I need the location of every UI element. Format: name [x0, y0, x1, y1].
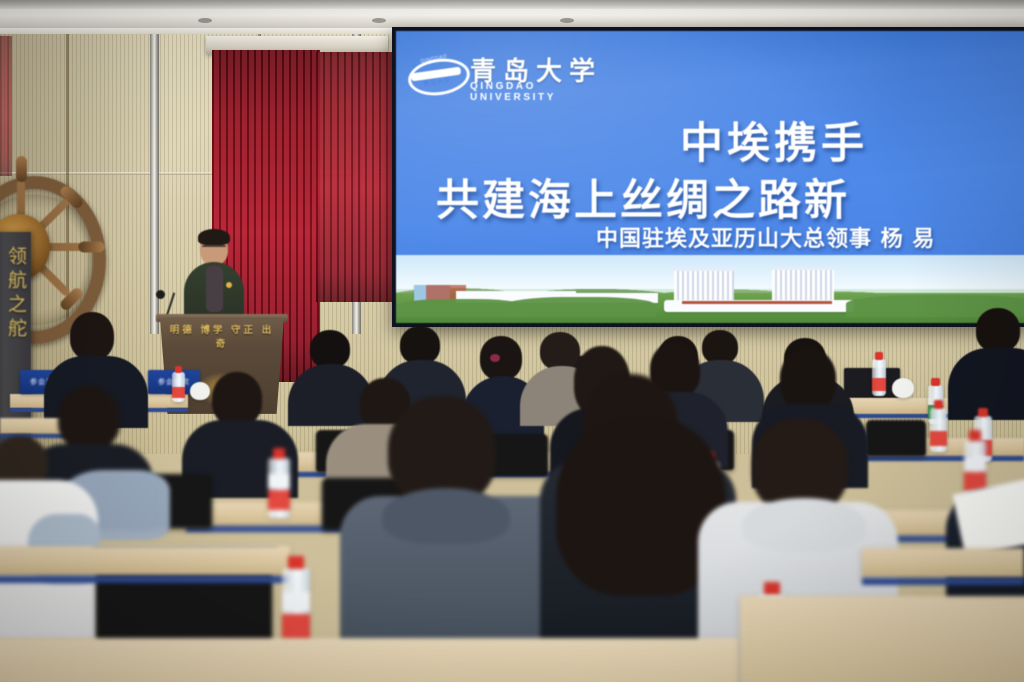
- ceiling-trim-strip: [0, 0, 1024, 9]
- chair: [866, 420, 926, 456]
- attendee-head: [70, 312, 114, 360]
- ceiling-spotlight: [560, 18, 574, 23]
- bottle-label-white: [268, 474, 290, 488]
- attendee-head: [310, 330, 350, 368]
- university-name-en: QINGDAO UNIVERSITY: [470, 81, 608, 103]
- water-bottle: [930, 400, 947, 452]
- bottle-label: [930, 431, 947, 446]
- speaker-glasses: [202, 245, 226, 252]
- ceiling-spotlight: [372, 18, 386, 23]
- water-bottle: [172, 366, 185, 402]
- attendee-head: [780, 348, 836, 410]
- attendee-head: [480, 336, 522, 380]
- campus-panorama-image: [396, 255, 1024, 323]
- decor-banner: 领航之舵: [0, 232, 31, 447]
- speaker-hair: [198, 229, 230, 245]
- slide-title-line1: 中埃携手: [396, 109, 1024, 171]
- lecture-hall-photo: 领航之舵 QINGDAO 青岛大学 青岛大学 QINGDAO UNIVERSIT…: [0, 0, 1024, 682]
- foreground-table: [0, 546, 290, 576]
- front-desk-surface: [740, 596, 1024, 682]
- bottle-cap: [969, 430, 981, 441]
- bottle-cap: [175, 366, 182, 373]
- wheel-handle: [79, 242, 105, 253]
- university-emblem-icon: QINGDAO 青岛大学: [408, 55, 464, 91]
- stage-curtain: [316, 52, 392, 302]
- decor-banner-text: 领航之舵: [0, 246, 31, 342]
- wheel-handle: [16, 156, 27, 182]
- teapot: [892, 378, 914, 398]
- stage-curtain-edge: [0, 36, 12, 176]
- attendee-head: [540, 332, 580, 370]
- hoodie-hood: [382, 488, 510, 544]
- ceiling-spotlight: [198, 18, 212, 23]
- panorama-trees: [506, 297, 656, 317]
- water-bottle: [268, 448, 290, 518]
- microphone-head: [156, 290, 165, 299]
- bottle-label-white: [282, 592, 310, 610]
- bottle-cap: [273, 448, 285, 459]
- attendee-head: [976, 308, 1020, 352]
- paper-handout: [952, 479, 1024, 558]
- bottle-label: [172, 387, 185, 398]
- table-edge: [860, 456, 1024, 461]
- qingdao-university-logo: QINGDAO 青岛大学 青岛大学 QINGDAO UNIVERSITY: [408, 51, 608, 97]
- projection-screen: QINGDAO 青岛大学 青岛大学 QINGDAO UNIVERSITY 中埃携…: [396, 31, 1024, 323]
- speaker-badge: [226, 282, 232, 288]
- hair-tie: [490, 354, 500, 362]
- attendee-head: [702, 330, 738, 364]
- bottle-label-white: [964, 456, 986, 470]
- bottle-cap: [288, 556, 304, 569]
- bottle-cap: [931, 378, 939, 386]
- table-edge: [0, 576, 290, 583]
- attendee-head: [400, 326, 440, 364]
- bottle-cap: [978, 408, 988, 417]
- slide-subtitle: 中国驻埃及亚历山大总领事 杨 易: [596, 221, 1024, 253]
- attendee-head: [212, 372, 262, 426]
- attendee-head: [58, 386, 120, 450]
- speaker-blouse: [206, 266, 223, 312]
- bottle-cap: [875, 352, 883, 360]
- bottle-label: [872, 378, 886, 391]
- podium-motto: 明德 博学 守正 出奇: [166, 322, 278, 350]
- table-edge: [862, 578, 1024, 585]
- teapot: [190, 382, 210, 400]
- bottle-label: [268, 490, 290, 510]
- foreground-table: [862, 548, 1024, 578]
- panorama-roofline: [682, 301, 832, 304]
- bottle-cap: [934, 400, 944, 409]
- hoodie-hood: [742, 498, 866, 552]
- slide-title-line2: 共建海上丝绸之路新: [436, 166, 1024, 228]
- front-desk-surface: [0, 638, 740, 682]
- bottle-cap: [764, 582, 780, 595]
- wall-mullion: [150, 34, 159, 334]
- water-bottle: [872, 352, 886, 396]
